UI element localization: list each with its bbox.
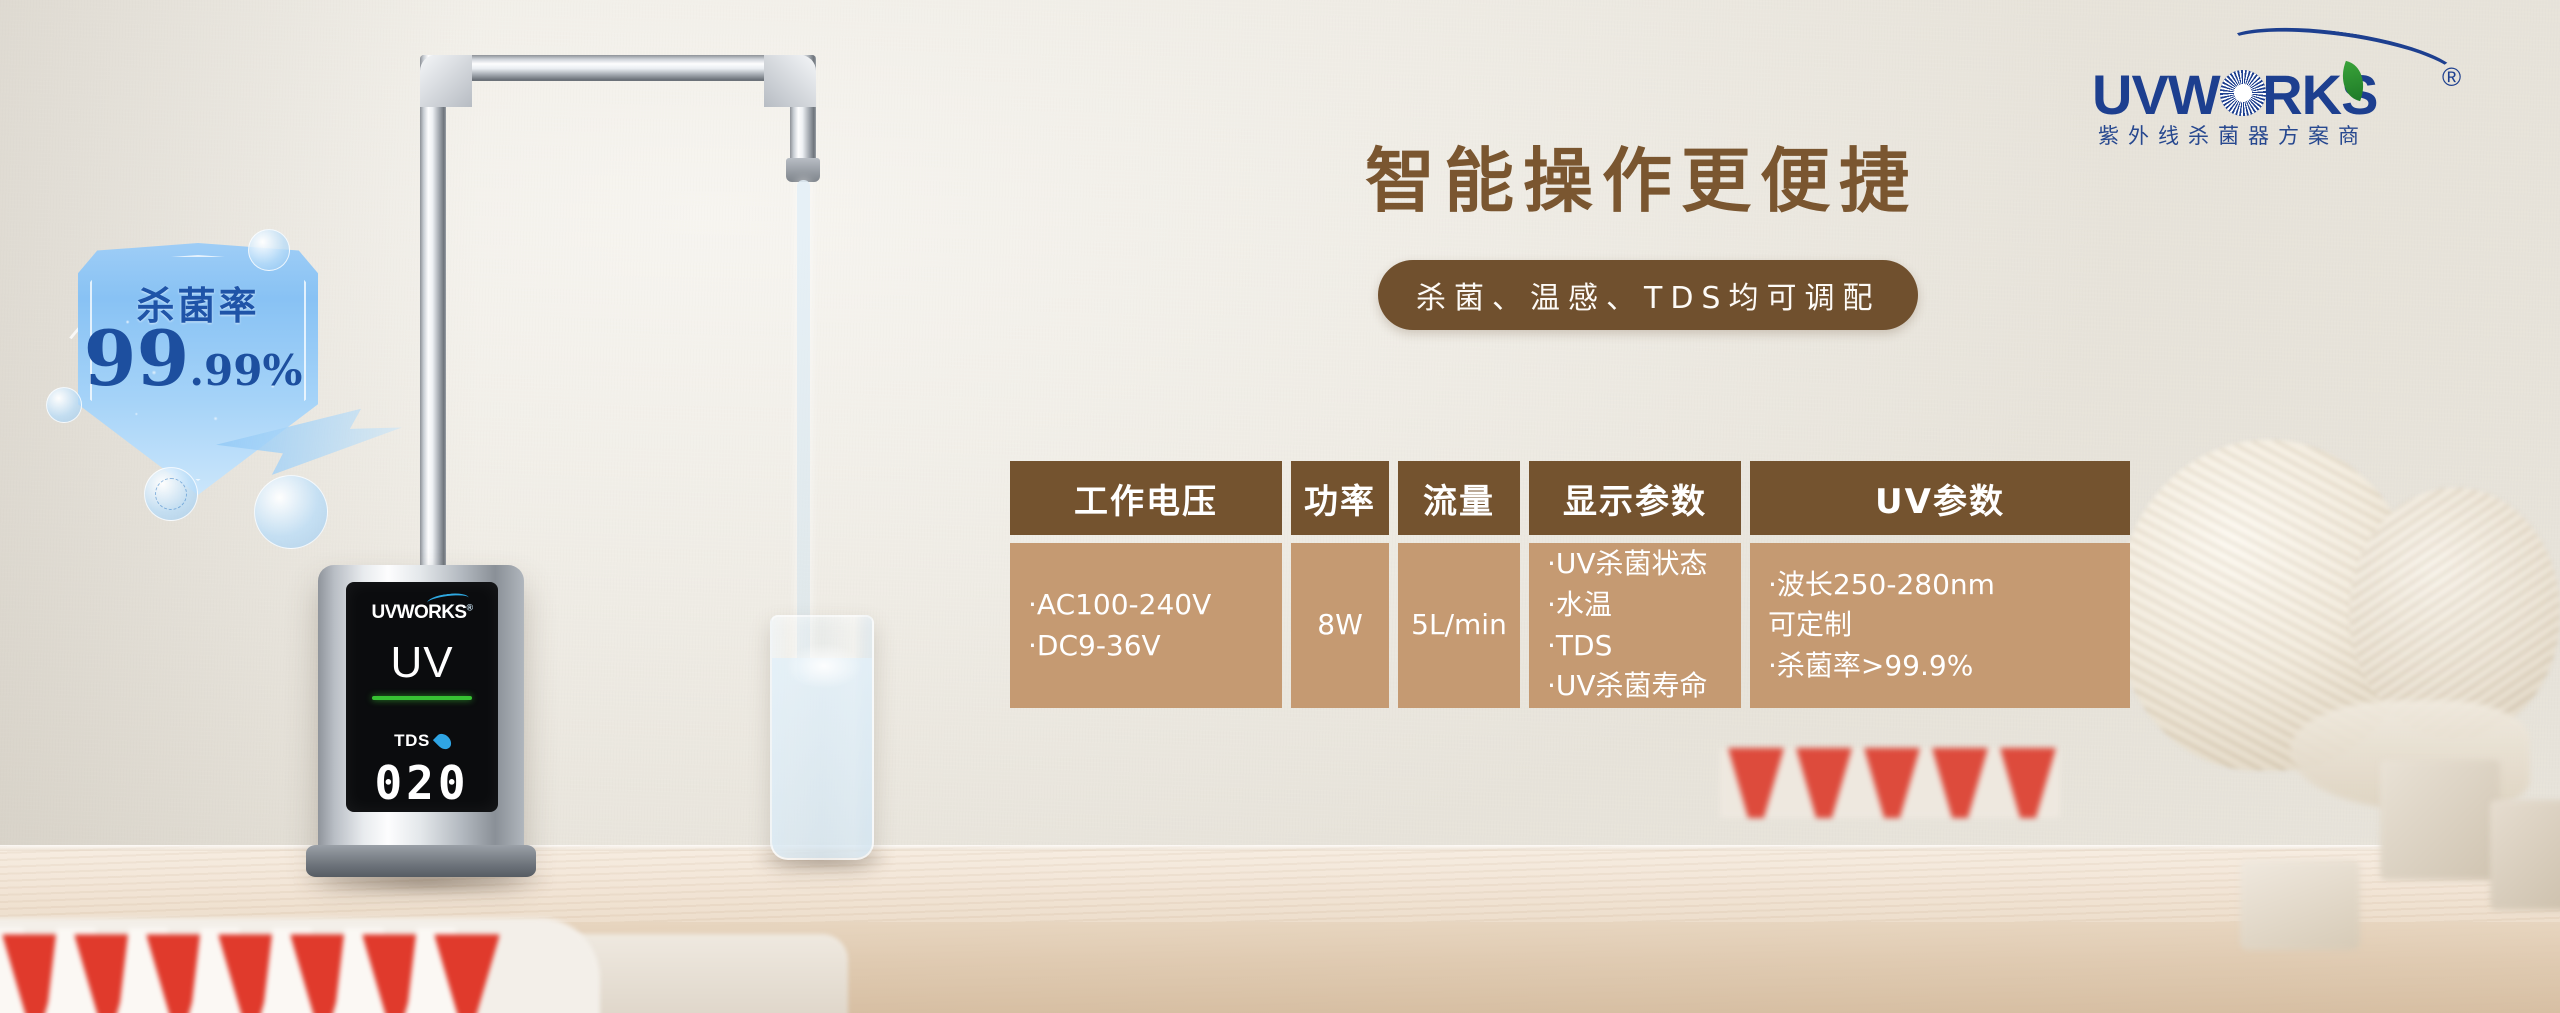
spec-column-header: 工作电压 [1010,461,1282,535]
faucet-column [420,55,446,615]
badge-value-minor: .99% [189,346,302,395]
device-screen[interactable]: UVWORKS® UV TDS 020 [346,582,498,812]
checkered-cloth-left [0,918,600,1013]
spec-column-body: ·UV杀菌状态·水温·TDS·UV杀菌寿命 [1529,543,1741,708]
screen-brand-logo: UVWORKS® [371,602,472,624]
spec-table: 工作电压·AC100-240V·DC9-36V功率8W流量5L/min显示参数·… [1010,461,2130,708]
spec-line: 5L/min [1411,605,1507,646]
bubble-icon-1 [248,229,290,271]
blurred-object-b [2490,800,2560,910]
spec-column-body: 8W [1291,543,1389,708]
spec-line: ·UV杀菌寿命 [1547,666,1708,707]
checkered-cloth-right [1720,748,2060,818]
spec-column-4: 显示参数·UV杀菌状态·水温·TDS·UV杀菌寿命 [1529,461,1741,708]
spec-column-body: ·AC100-240V·DC9-36V [1010,543,1282,708]
badge-value: 99.99% [68,321,318,397]
water-glass [770,615,874,860]
spec-column-3: 流量5L/min [1398,461,1520,708]
brand-logo: UVWORKS ® 紫外线杀菌器方案商 [2092,30,2492,140]
screen-status-bar [372,696,472,700]
screen-tds-row: TDS [394,731,450,751]
screen-tds-value: 020 [374,760,469,806]
spec-line: ·波长250-280nm [1768,565,1995,606]
spec-line: 可定制 [1768,605,1852,646]
spec-column-1: 工作电压·AC100-240V·DC9-36V [1010,461,1282,708]
spec-line: ·TDS [1547,626,1612,667]
spec-line: ·水温 [1547,585,1612,626]
spec-line: ·UV杀菌状态 [1547,544,1708,585]
spec-line: ·AC100-240V [1028,585,1211,626]
faucet-corner-left [420,55,472,107]
screen-mode-label: UV [390,641,453,685]
spec-column-header: 流量 [1398,461,1520,535]
bubble-icon-3 [254,475,328,549]
water-drop-icon [433,730,454,751]
subtitle-pill: 杀菌、温感、TDS均可调配 [1378,260,1918,330]
spec-column-body: 5L/min [1398,543,1520,708]
water-stream [797,180,810,680]
registered-trademark-icon: ® [2442,62,2461,93]
spec-column-header: UV参数 [1750,461,2130,535]
page-title: 智能操作更便捷 [1365,125,1918,226]
blurred-object-a [2380,760,2500,880]
badge-value-major: 99 [84,314,190,403]
water-splash [786,643,862,689]
spec-column-header: 功率 [1291,461,1389,535]
uv-sunburst-icon [2220,70,2266,116]
spec-column-5: UV参数·波长250-280nm可定制·杀菌率>99.9% [1750,461,2130,708]
sterilization-rate-badge: 杀菌率 99.99% [40,215,360,535]
spec-line: ·DC9-36V [1028,626,1161,667]
device-base [306,845,536,877]
bubble-icon-2 [46,387,82,423]
screen-tds-label: TDS [394,731,430,751]
faucet-nozzle [786,158,820,182]
spec-column-header: 显示参数 [1529,461,1741,535]
bubble-icon-4 [144,467,198,521]
spec-column-body: ·波长250-280nm可定制·杀菌率>99.9% [1750,543,2130,708]
faucet-corner-right [764,55,816,107]
spec-line: ·杀菌率>99.9% [1768,646,1973,687]
spec-line: 8W [1317,605,1363,646]
logo-tagline: 紫外线杀菌器方案商 [2098,120,2368,150]
faucet-arm [420,55,816,81]
blurred-object-c [2240,860,2360,950]
spec-column-2: 功率8W [1291,461,1389,708]
